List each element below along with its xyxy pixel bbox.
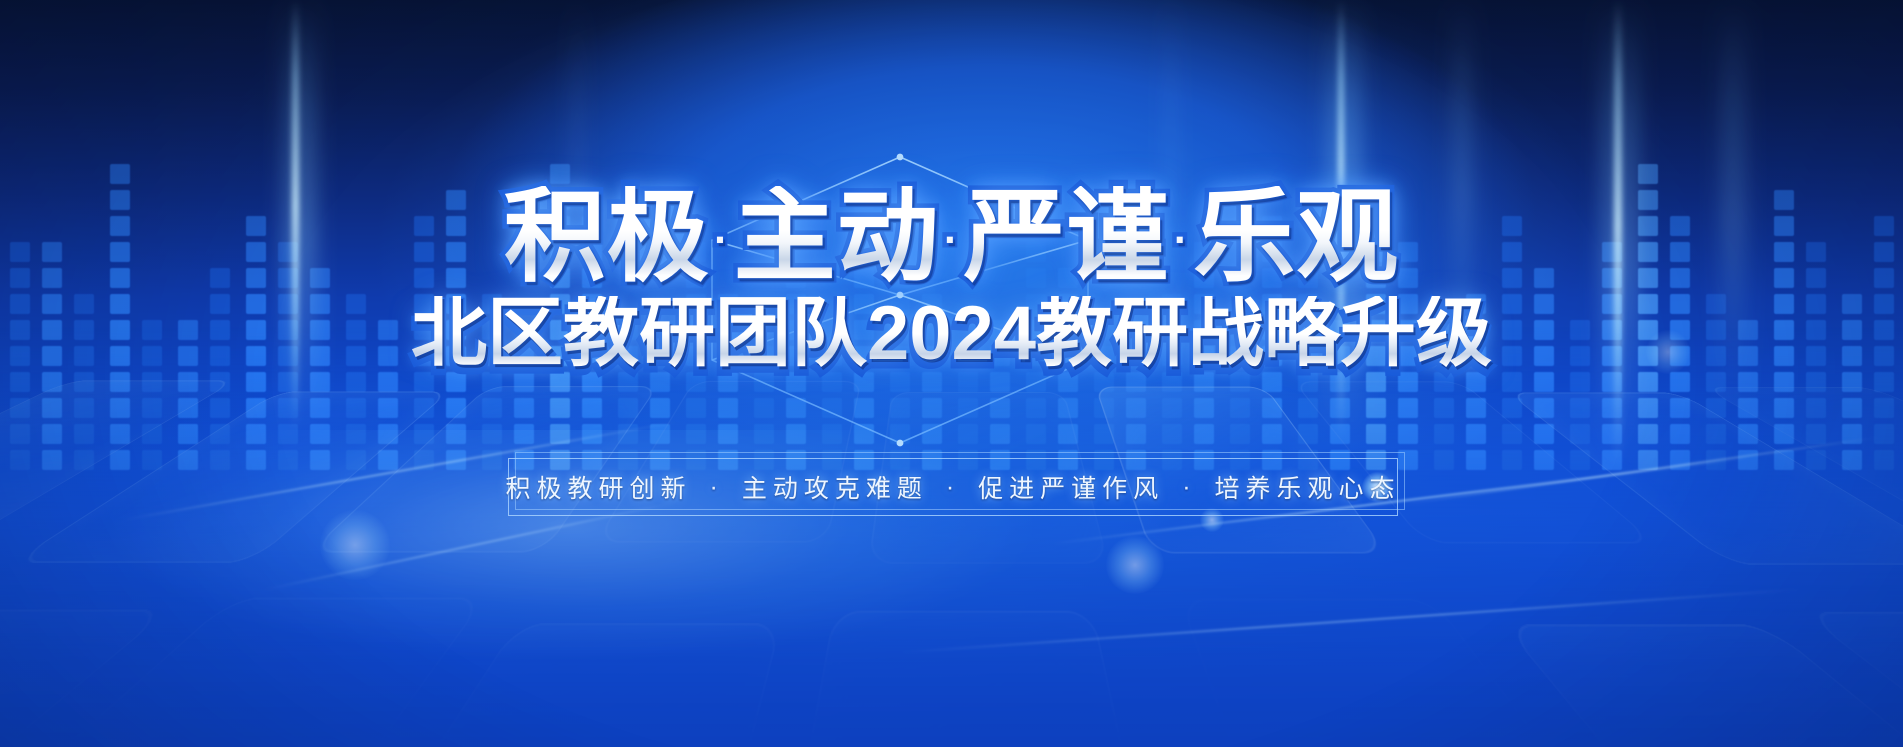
skyline-block [754, 372, 774, 392]
skyline-block [246, 216, 266, 236]
skyline-block [1366, 216, 1386, 236]
skyline-block [890, 268, 910, 288]
skyline-block [1874, 372, 1894, 392]
skyline-block [1298, 450, 1318, 470]
skyline-block [1874, 268, 1894, 288]
title-word: 乐观 [1193, 180, 1399, 294]
skyline-block [1398, 398, 1418, 418]
skyline-block [1230, 450, 1250, 470]
skyline-block [178, 372, 198, 392]
skyline-block [890, 294, 910, 314]
skyline-block [1502, 424, 1522, 444]
skyline-block [718, 398, 738, 418]
skyline-block [1774, 372, 1794, 392]
skyline-block [1534, 398, 1554, 418]
skyline-block [1026, 450, 1046, 470]
skyline-block [446, 424, 466, 444]
skyline-block [1126, 424, 1146, 444]
skyline-block [550, 216, 570, 236]
skyline-block [246, 372, 266, 392]
skyline-block [110, 398, 130, 418]
skyline-block [854, 268, 874, 288]
title-word: 乐观 [1193, 180, 1399, 294]
skyline-block [1262, 216, 1282, 236]
skyline-block [1262, 346, 1282, 366]
skyline-block [1670, 372, 1690, 392]
skyline-block [74, 424, 94, 444]
tagline-separator-dot: · [930, 473, 976, 502]
light-beam [1326, 0, 1362, 440]
skyline-bar [1398, 242, 1418, 470]
skyline-block [110, 268, 130, 288]
skyline-block [1398, 346, 1418, 366]
skyline-block [550, 190, 570, 210]
floor-sheen [0, 430, 1903, 747]
skyline-block [446, 268, 466, 288]
title-word: 严谨 [963, 180, 1169, 294]
skyline-block [1366, 190, 1386, 210]
skyline-block [10, 346, 30, 366]
tagline-separator-dot: · [694, 473, 740, 502]
skyline-block [1094, 424, 1114, 444]
skyline-block [1366, 242, 1386, 262]
skyline-block [378, 424, 398, 444]
skyline-bar [1366, 190, 1386, 470]
skyline-block [1162, 398, 1182, 418]
skyline-block [1126, 398, 1146, 418]
skyline-block [110, 294, 130, 314]
skyline-block [990, 398, 1010, 418]
skyline-bar [178, 320, 198, 470]
skyline-block [42, 320, 62, 340]
tagline-separator-dot: · [1166, 473, 1212, 502]
skyline-block [1874, 294, 1894, 314]
skyline-block [1366, 450, 1386, 470]
title-word: 积极 [504, 180, 710, 294]
skyline-block [582, 398, 602, 418]
skyline-block [1058, 268, 1078, 288]
skyline-block [550, 450, 570, 470]
skyline-block [246, 346, 266, 366]
skyline-block [550, 268, 570, 288]
skyline-block [822, 450, 842, 470]
skyline-block [854, 294, 874, 314]
skyline-block [1366, 346, 1386, 366]
skyline-block [1398, 450, 1418, 470]
skyline-block [1366, 268, 1386, 288]
skyline-block [378, 346, 398, 366]
skyline-block [582, 216, 602, 236]
floor-glow-dot [1362, 472, 1392, 502]
skyline-bar [74, 294, 94, 470]
skyline-block [1094, 320, 1114, 340]
skyline-bar [1502, 216, 1522, 470]
skyline-block [1026, 424, 1046, 444]
skyline-block [686, 294, 706, 314]
skyline-block [414, 242, 434, 262]
skyline-block [10, 450, 30, 470]
skyline-block [310, 450, 330, 470]
skyline-block [1774, 398, 1794, 418]
skyline-block [582, 294, 602, 314]
skyline-block [1230, 372, 1250, 392]
skyline-block [178, 424, 198, 444]
skyline-block [1058, 372, 1078, 392]
skyline-block [346, 294, 366, 314]
skyline-block [378, 372, 398, 392]
skyline-block [854, 242, 874, 262]
skyline-block [1262, 242, 1282, 262]
tagline-segment: 积极教研创新 [503, 469, 693, 505]
skyline-block [1162, 450, 1182, 470]
skyline-block [1398, 294, 1418, 314]
skyline-block [1466, 398, 1486, 418]
skyline-block [1874, 398, 1894, 418]
skyline-block [1670, 398, 1690, 418]
skyline-block [414, 320, 434, 340]
skyline-block [686, 346, 706, 366]
skyline-block [1298, 294, 1318, 314]
skyline-bar [514, 346, 534, 470]
skyline-block [1502, 294, 1522, 314]
skyline-bar [1534, 268, 1554, 470]
skyline-bar [786, 268, 806, 470]
skyline-block [618, 450, 638, 470]
skyline-block [854, 372, 874, 392]
skyline-block [922, 294, 942, 314]
skyline-block [1534, 268, 1554, 288]
skyline-block [1638, 424, 1658, 444]
skyline-block [42, 294, 62, 314]
skyline-block [1398, 242, 1418, 262]
skyline-block [550, 242, 570, 262]
skyline-block [1194, 372, 1214, 392]
skyline-block [1058, 346, 1078, 366]
skyline-block [42, 398, 62, 418]
floor-tile [1180, 599, 1782, 747]
light-beam [283, 0, 317, 430]
skyline-block [1398, 424, 1418, 444]
skyline-block [142, 372, 162, 392]
skyline-block [110, 372, 130, 392]
skyline-block [786, 320, 806, 340]
skyline-block [1094, 450, 1114, 470]
skyline-block [1194, 294, 1214, 314]
skyline-block [1570, 424, 1590, 444]
skyline-block [1194, 450, 1214, 470]
skyline-block [1058, 294, 1078, 314]
skyline-block [1434, 346, 1454, 366]
skyline-block [1466, 450, 1486, 470]
skyline-block [1262, 372, 1282, 392]
skyline-block [550, 320, 570, 340]
tagline-text: 积极教研创新·主动攻克难题·促进严谨作风·培养乐观心态 [508, 458, 1398, 516]
skyline-block [1058, 320, 1078, 340]
skyline-block [958, 346, 978, 366]
skyline-bar [142, 320, 162, 470]
skyline-block [346, 372, 366, 392]
skyline-block [1194, 398, 1214, 418]
skyline-block [1806, 242, 1826, 262]
skyline-block [1230, 346, 1250, 366]
skyline-block [346, 398, 366, 418]
skyline-block [1162, 424, 1182, 444]
skyline-block [618, 372, 638, 392]
skyline-bar [1194, 242, 1214, 470]
skyline-bar [1842, 294, 1862, 470]
skyline-block [1298, 346, 1318, 366]
skyline-block [1806, 320, 1826, 340]
skyline-block [1842, 294, 1862, 314]
skyline-block [346, 424, 366, 444]
skyline-block [854, 190, 874, 210]
skyline-bar [686, 242, 706, 470]
skyline-block [686, 268, 706, 288]
skyline-block [482, 320, 502, 340]
skyline-block [210, 268, 230, 288]
skyline-block [278, 450, 298, 470]
skyline-block [1534, 294, 1554, 314]
skyline-block [346, 320, 366, 340]
skyline-block [1806, 294, 1826, 314]
skyline-block [1874, 346, 1894, 366]
skyline-block [74, 320, 94, 340]
skyline-block [1194, 242, 1214, 262]
light-beam [575, 0, 579, 380]
skyline-block [958, 450, 978, 470]
skyline-block [754, 424, 774, 444]
floor-streak [124, 421, 676, 520]
floor-glow-dot [1646, 330, 1690, 374]
skyline-block [346, 450, 366, 470]
skyline-block [1398, 372, 1418, 392]
skyline-block [178, 320, 198, 340]
skyline-block [1026, 242, 1046, 262]
skyline-block [582, 268, 602, 288]
skyline-block [110, 320, 130, 340]
skyline-block [1502, 268, 1522, 288]
skyline-bar [1094, 320, 1114, 470]
skyline-block [110, 216, 130, 236]
title-separator-dot: · [1174, 219, 1189, 262]
skyline-block [1638, 216, 1658, 236]
skyline-block [854, 450, 874, 470]
skyline-block [1126, 450, 1146, 470]
skyline-block [414, 372, 434, 392]
skyline-bar [1434, 320, 1454, 470]
skyline-block [1638, 294, 1658, 314]
skyline-block [1502, 450, 1522, 470]
skyline-block [718, 450, 738, 470]
skyline-block [378, 398, 398, 418]
skyline-block [1842, 320, 1862, 340]
skyline-block [990, 450, 1010, 470]
skyline-block [618, 398, 638, 418]
title-word: 严谨 [963, 180, 1169, 294]
floor-tile [869, 392, 1110, 564]
skyline-block [1262, 320, 1282, 340]
skyline-block [1434, 424, 1454, 444]
skyline-bar [210, 268, 230, 470]
skyline-block [922, 346, 942, 366]
skyline-bar [550, 164, 570, 470]
skyline-block [10, 242, 30, 262]
skyline-block [582, 242, 602, 262]
skyline-block [786, 398, 806, 418]
skyline-block [754, 450, 774, 470]
skyline-bar [42, 242, 62, 470]
skyline-block [446, 320, 466, 340]
skyline-block [1806, 398, 1826, 418]
skyline-block [1842, 450, 1862, 470]
skyline-block [414, 294, 434, 314]
skyline-bar [378, 320, 398, 470]
title-separator-dot: · [1174, 219, 1189, 262]
skyline-bar [1026, 242, 1046, 470]
skyline-block [1670, 242, 1690, 262]
skyline-block [1026, 268, 1046, 288]
skyline-block [1058, 424, 1078, 444]
tagline-frame-inner-line [515, 452, 1405, 510]
skyline-block [1638, 190, 1658, 210]
skyline-block [1570, 450, 1590, 470]
skyline-block [74, 398, 94, 418]
skyline-bar [482, 294, 502, 470]
skyline-block [1774, 242, 1794, 262]
skyline-block [890, 450, 910, 470]
skyline-block [446, 242, 466, 262]
skyline-bar [10, 242, 30, 470]
skyline-block [1638, 268, 1658, 288]
skyline-block [1230, 320, 1250, 340]
skyline-block [1502, 320, 1522, 340]
skyline-block [42, 242, 62, 262]
skyline-block [1026, 294, 1046, 314]
skyline-block [1670, 424, 1690, 444]
skyline-block [822, 424, 842, 444]
floor-tile [0, 610, 171, 747]
skyline-block [1874, 424, 1894, 444]
skyline-block [1126, 372, 1146, 392]
skyline-block [1534, 450, 1554, 470]
skyline-block [890, 346, 910, 366]
light-beam [1452, 0, 1472, 360]
skyline-bar [958, 346, 978, 470]
skyline-block [514, 372, 534, 392]
skyline-block [1094, 398, 1114, 418]
skyline-bar [922, 294, 942, 470]
skyline-block [718, 346, 738, 366]
skyline-block [650, 346, 670, 366]
skyline-block [786, 268, 806, 288]
skyline-block [210, 398, 230, 418]
skyline-bar [110, 164, 130, 470]
title-separator-dot: · [714, 219, 729, 262]
skyline-bar [718, 294, 738, 470]
hexagon-wireframe-icon [700, 145, 1100, 455]
skyline-block [1534, 372, 1554, 392]
skyline-block [10, 268, 30, 288]
title-word: 主动 [734, 180, 940, 294]
skyline-block [1774, 424, 1794, 444]
skyline-block [1534, 346, 1554, 366]
skyline-block [922, 398, 942, 418]
title-word: 积极 [504, 180, 710, 294]
skyline-block [822, 398, 842, 418]
skyline-block [42, 424, 62, 444]
skyline-block [142, 450, 162, 470]
title-separator-dot: · [944, 219, 959, 262]
skyline-bar [1570, 320, 1590, 470]
light-beam [1168, 0, 1173, 360]
skyline-block [582, 450, 602, 470]
skyline-block [1230, 398, 1250, 418]
skyline-block [482, 294, 502, 314]
skyline-bar [1126, 346, 1146, 470]
skyline-block [854, 216, 874, 236]
skyline-block [210, 294, 230, 314]
skyline-block [550, 294, 570, 314]
skyline-block [1262, 268, 1282, 288]
skyline-block [110, 164, 130, 184]
skyline-block [550, 164, 570, 184]
skyline-block [1774, 268, 1794, 288]
skyline-block [1842, 372, 1862, 392]
skyline-block [10, 294, 30, 314]
skyline-block [1570, 346, 1590, 366]
skyline-block [42, 268, 62, 288]
skyline-block [110, 190, 130, 210]
skyline-block [1434, 450, 1454, 470]
skyline-block [958, 398, 978, 418]
skyline-block [754, 346, 774, 366]
skyline-block [1434, 372, 1454, 392]
skyline-block [1570, 372, 1590, 392]
skyline-block [1058, 398, 1078, 418]
tagline-segment: 促进严谨作风 [976, 469, 1166, 505]
skyline-block [686, 372, 706, 392]
skyline-block [514, 346, 534, 366]
skyline-block [1806, 268, 1826, 288]
skyline-block [1194, 268, 1214, 288]
skyline-bar [414, 216, 434, 470]
skyline-block [582, 372, 602, 392]
skyline-block [446, 398, 466, 418]
floor-glow-dot [320, 510, 390, 580]
skyline-bar [1774, 190, 1794, 470]
banner-root: 积极·主动·严谨·乐观 积极·主动·严谨·乐观 北区教研团队2024教研战略升级… [0, 0, 1903, 747]
skyline-block [482, 424, 502, 444]
skyline-block [446, 294, 466, 314]
floor-glow-dot [1200, 508, 1224, 532]
skyline-block [1774, 346, 1794, 366]
skyline-block [378, 450, 398, 470]
skyline-block [110, 424, 130, 444]
floor-streak [1402, 437, 1878, 506]
skyline-block [1194, 346, 1214, 366]
skyline-bar [822, 320, 842, 470]
floor-tile [0, 380, 237, 541]
skyline-block [1366, 424, 1386, 444]
skyline-bar [582, 190, 602, 470]
skyline-block [1670, 294, 1690, 314]
skyline-block [514, 398, 534, 418]
skyline-block [1638, 164, 1658, 184]
light-beam [1600, 0, 1640, 470]
skyline-block [1774, 190, 1794, 210]
skyline-block [446, 190, 466, 210]
skyline-block [178, 450, 198, 470]
